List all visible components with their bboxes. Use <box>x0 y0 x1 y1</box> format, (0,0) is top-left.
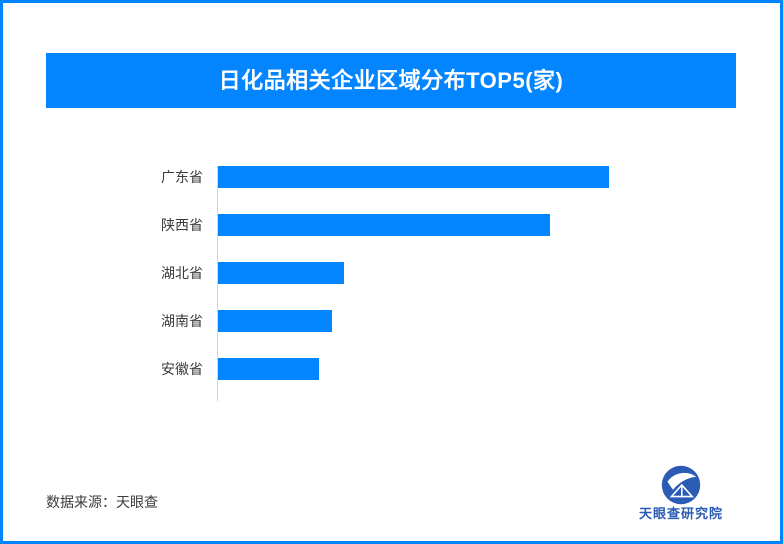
bar-category-label: 广东省 <box>46 166 203 188</box>
bar-track <box>218 310 332 332</box>
bar-category-label: 湖北省 <box>46 262 203 284</box>
bar-value <box>218 214 550 236</box>
chart-plot-area: 广东省 陕西省 湖北省 湖南省 <box>46 158 736 406</box>
bar-row: 陕西省 <box>46 214 736 236</box>
bar-track <box>218 262 344 284</box>
bar-category-label: 安徽省 <box>46 358 203 380</box>
bar-category-label: 陕西省 <box>46 214 203 236</box>
bar-value <box>218 310 332 332</box>
title-banner: 日化品相关企业区域分布TOP5(家) <box>46 53 736 108</box>
tianyancha-eye-icon <box>661 465 701 505</box>
brand-logo: 天眼查研究院 <box>625 465 737 527</box>
bar-track <box>218 166 609 188</box>
bar-chart: 广东省 陕西省 湖北省 湖南省 <box>46 158 736 413</box>
page-title: 日化品相关企业区域分布TOP5(家) <box>219 70 564 92</box>
bar-track <box>218 358 319 380</box>
bar-row: 湖南省 <box>46 310 736 332</box>
bar-row: 广东省 <box>46 166 736 188</box>
data-source-note: 数据来源：天眼查 <box>46 492 158 512</box>
bar-category-label: 湖南省 <box>46 310 203 332</box>
bar-value <box>218 262 344 284</box>
bar-value <box>218 358 319 380</box>
bar-track <box>218 214 550 236</box>
bar-row: 安徽省 <box>46 358 736 380</box>
bar-row: 湖北省 <box>46 262 736 284</box>
bar-value <box>218 166 609 188</box>
infographic-canvas: 日化品相关企业区域分布TOP5(家) 广东省 陕西省 湖北省 <box>0 0 783 544</box>
brand-wordmark: 天眼查研究院 <box>639 507 723 520</box>
